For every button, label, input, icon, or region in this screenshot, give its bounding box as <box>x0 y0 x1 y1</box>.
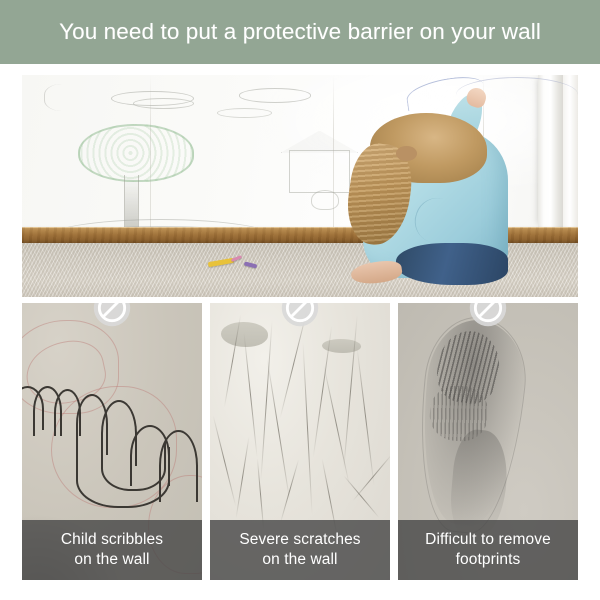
problem-card-scribbles[interactable]: Child scribbles on the wall <box>22 303 202 580</box>
drawing-sun <box>44 84 88 111</box>
shirt-fold <box>409 192 464 248</box>
problem-thumbnail-row: Child scribbles on the wall <box>22 303 578 580</box>
hair-tie <box>396 146 417 160</box>
drawing-house <box>289 150 350 192</box>
prohibition-icon <box>281 303 319 327</box>
caption-text: Difficult to remove footprints <box>421 530 555 570</box>
caption-line-1: Child scribbles <box>61 531 163 548</box>
child-foot <box>350 258 404 286</box>
caption-line-1: Difficult to remove <box>425 531 551 548</box>
caption-bar: Severe scratches on the wall <box>210 520 390 580</box>
promo-infographic: You need to put a protective barrier on … <box>0 0 600 600</box>
child-figure <box>344 91 578 297</box>
prohibition-icon <box>469 303 507 327</box>
page-title: You need to put a protective barrier on … <box>59 19 541 45</box>
child-jeans <box>396 243 508 284</box>
caption-line-2: footprints <box>456 551 521 568</box>
problem-card-scratches[interactable]: Severe scratches on the wall <box>210 303 390 580</box>
caption-text: Child scribbles on the wall <box>57 530 167 570</box>
caption-line-2: on the wall <box>74 551 149 568</box>
drawing-tree-canopy <box>78 124 195 182</box>
header-banner: You need to put a protective barrier on … <box>0 0 600 64</box>
prohibition-icon <box>93 303 131 327</box>
hero-image <box>22 75 578 297</box>
caption-line-2: on the wall <box>262 551 337 568</box>
caption-line-1: Severe scratches <box>239 531 360 548</box>
caption-bar: Difficult to remove footprints <box>398 520 578 580</box>
caption-text: Severe scratches on the wall <box>235 530 364 570</box>
drawing-cloud <box>239 88 311 102</box>
drawing-flower <box>311 190 339 210</box>
problem-card-footprints[interactable]: Difficult to remove footprints <box>398 303 578 580</box>
dark-scribble <box>101 442 166 492</box>
caption-bar: Child scribbles on the wall <box>22 520 202 580</box>
